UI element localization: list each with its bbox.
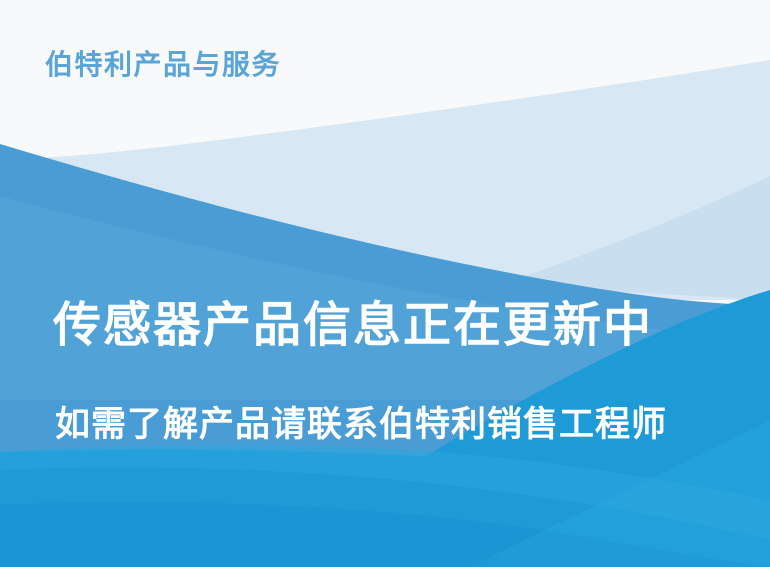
product-banner: 伯特利产品与服务 传感器产品信息正在更新中 如需了解产品请联系伯特利销售工程师 bbox=[0, 0, 770, 567]
banner-sub-title: 如需了解产品请联系伯特利销售工程师 bbox=[55, 405, 667, 445]
banner-header-title: 伯特利产品与服务 bbox=[45, 50, 281, 81]
banner-text-layer: 伯特利产品与服务 传感器产品信息正在更新中 如需了解产品请联系伯特利销售工程师 bbox=[0, 0, 770, 567]
banner-main-title: 传感器产品信息正在更新中 bbox=[53, 298, 653, 353]
